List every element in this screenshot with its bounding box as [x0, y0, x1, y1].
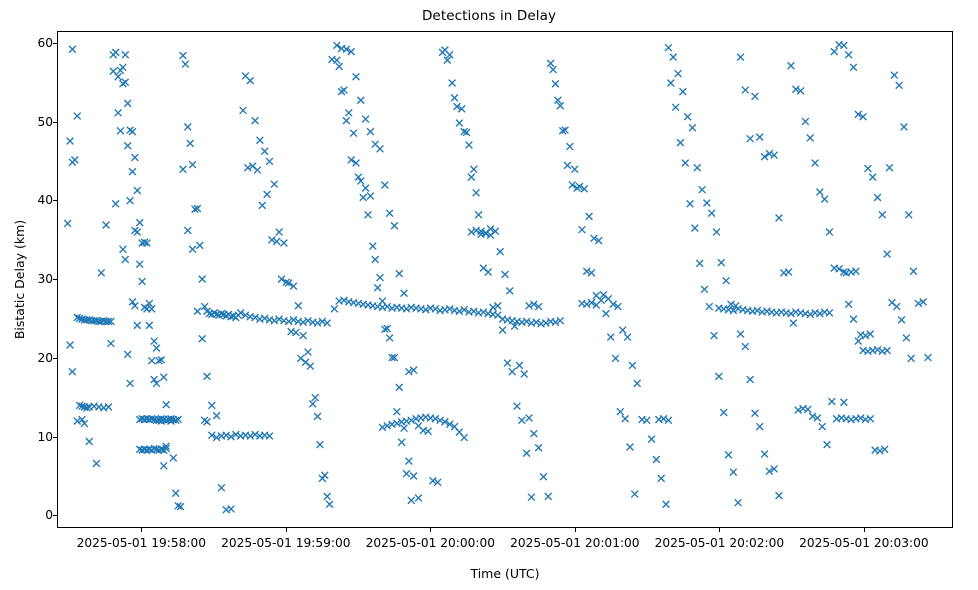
scatter-point — [228, 506, 235, 513]
y-tick-label: 40 — [37, 193, 53, 207]
scatter-point — [852, 268, 859, 275]
scatter-point — [788, 62, 795, 69]
scatter-series-detections — [58, 32, 952, 527]
scatter-point — [634, 380, 641, 387]
y-tick-label: 50 — [37, 115, 53, 129]
scatter-point — [663, 501, 670, 508]
scatter-point — [124, 142, 131, 149]
scatter-point — [499, 327, 506, 334]
scatter-point — [908, 355, 915, 362]
scatter-point — [293, 329, 300, 336]
scatter-point — [901, 124, 908, 131]
scatter-point — [840, 42, 847, 49]
scatter-point — [124, 351, 131, 358]
scatter-point — [603, 310, 610, 317]
scatter-point — [470, 166, 477, 173]
scatter-point — [905, 211, 912, 218]
scatter-point — [564, 162, 571, 169]
scatter-point — [845, 51, 852, 58]
plot-area — [57, 31, 953, 528]
scatter-point — [69, 368, 76, 375]
scatter-point — [305, 349, 312, 356]
scatter-point — [812, 160, 819, 167]
scatter-point — [855, 338, 862, 345]
scatter-point — [840, 399, 847, 406]
scatter-point — [415, 495, 422, 502]
scatter-point — [689, 124, 696, 131]
scatter-point — [122, 79, 129, 86]
scatter-point — [396, 270, 403, 277]
x-tick-label: 2025-05-01 20:01:00 — [510, 535, 639, 551]
scatter-point — [518, 417, 525, 424]
scatter-point — [103, 222, 110, 229]
scatter-point — [816, 189, 823, 196]
scatter-point — [146, 322, 153, 329]
scatter-point — [362, 185, 369, 192]
scatter-point — [333, 57, 340, 64]
x-tick-label: 2025-05-01 20:00:00 — [366, 535, 495, 551]
scatter-point — [369, 243, 376, 250]
scatter-point — [362, 116, 369, 123]
scatter-point — [163, 401, 170, 408]
scatter-point — [667, 80, 674, 87]
x-tick-label: 2025-05-01 19:58:00 — [77, 535, 206, 551]
scatter-point — [504, 360, 511, 367]
scatter-point — [353, 73, 360, 80]
scatter-point — [309, 400, 316, 407]
scatter-point — [752, 410, 759, 417]
scatter-point — [706, 303, 713, 310]
scatter-point — [699, 186, 706, 193]
scatter-point — [884, 251, 891, 258]
y-tick-label: 10 — [37, 430, 53, 444]
scatter-point — [312, 394, 319, 401]
scatter-point — [281, 240, 288, 247]
scatter-point — [254, 167, 261, 174]
scatter-point — [204, 373, 211, 380]
scatter-point — [552, 80, 559, 87]
scatter-point — [747, 135, 754, 142]
scatter-point — [115, 73, 122, 80]
scatter-point — [713, 229, 720, 236]
scatter-point — [261, 148, 268, 155]
scatter-point — [187, 140, 194, 147]
scatter-point — [828, 398, 835, 405]
scatter-point — [742, 343, 749, 350]
scatter-point — [670, 54, 677, 61]
scatter-point — [372, 256, 379, 263]
scatter-point — [879, 211, 886, 218]
scatter-point — [367, 128, 374, 135]
scatter-point — [398, 439, 405, 446]
scatter-point — [449, 80, 456, 87]
scatter-point — [831, 48, 838, 55]
scatter-point — [98, 269, 105, 276]
scatter-point — [687, 200, 694, 207]
scatter-point — [317, 441, 324, 448]
scatter-point — [256, 137, 263, 144]
scatter-point — [869, 174, 876, 181]
scatter-point — [69, 46, 76, 53]
scatter-point — [896, 82, 903, 89]
scatter-point — [850, 64, 857, 71]
x-tick-mark — [575, 528, 576, 532]
scatter-point — [617, 408, 624, 415]
x-tick-label: 2025-05-01 19:59:00 — [221, 535, 350, 551]
scatter-point — [204, 418, 211, 425]
scatter-point — [672, 104, 679, 111]
scatter-point — [629, 362, 636, 369]
scatter-point — [776, 215, 783, 222]
scatter-point — [571, 166, 578, 173]
scatter-point — [451, 95, 458, 102]
scatter-point — [86, 438, 93, 445]
scatter-point — [136, 219, 143, 226]
scatter-point — [107, 340, 114, 347]
scatter-point — [891, 72, 898, 79]
x-tick-mark — [430, 528, 431, 532]
scatter-point — [566, 143, 573, 150]
scatter-point — [259, 202, 266, 209]
scatter-point — [886, 164, 893, 171]
scatter-point — [473, 189, 480, 196]
scatter-point — [71, 156, 78, 163]
scatter-point — [184, 124, 191, 131]
scatter-point — [776, 492, 783, 499]
scatter-point — [196, 242, 203, 249]
scatter-point — [735, 499, 742, 506]
scatter-point — [526, 415, 533, 422]
scatter-point — [218, 484, 225, 491]
scatter-point — [619, 327, 626, 334]
scatter-point — [117, 127, 124, 134]
scatter-point — [180, 166, 187, 173]
scatter-point — [807, 135, 814, 142]
scatter-point — [112, 200, 119, 207]
scatter-point — [264, 191, 271, 198]
scatter-point — [497, 248, 504, 255]
y-tick-label: 30 — [37, 272, 53, 286]
scatter-point — [324, 493, 331, 500]
scatter-point — [386, 335, 393, 342]
scatter-point — [271, 181, 278, 188]
scatter-point — [252, 117, 259, 124]
x-tick-mark — [286, 528, 287, 532]
scatter-point — [540, 473, 547, 480]
scatter-point — [579, 226, 586, 233]
scatter-point — [631, 491, 638, 498]
y-tick-label: 60 — [37, 36, 53, 50]
scatter-point — [122, 51, 129, 58]
scatter-point — [67, 342, 74, 349]
scatter-point — [845, 301, 852, 308]
scatter-point — [357, 97, 364, 104]
y-tick-label: 20 — [37, 351, 53, 365]
scatter-point — [468, 174, 475, 181]
scatter-point — [360, 194, 367, 201]
scatter-point — [547, 60, 554, 67]
scatter-point — [550, 66, 557, 73]
scatter-point — [122, 256, 129, 263]
scatter-point — [64, 220, 71, 227]
scatter-point — [761, 451, 768, 458]
scatter-point — [379, 298, 386, 305]
scatter-point — [701, 286, 708, 293]
scatter-point — [132, 154, 139, 161]
scatter-point — [151, 338, 158, 345]
scatter-point — [266, 433, 273, 440]
x-tick-label: 2025-05-01 20:03:00 — [799, 535, 928, 551]
scatter-point — [381, 182, 388, 189]
scatter-point — [401, 290, 408, 297]
scatter-point — [401, 425, 408, 432]
scatter-point — [624, 334, 631, 341]
scatter-point — [790, 320, 797, 327]
scatter-point — [266, 158, 273, 165]
scatter-point — [884, 347, 891, 354]
scatter-point — [182, 61, 189, 68]
scatter-point — [160, 462, 167, 469]
scatter-point — [367, 193, 374, 200]
scatter-point — [925, 354, 932, 361]
scatter-point — [105, 404, 112, 411]
scatter-point — [703, 200, 710, 207]
scatter-point — [74, 113, 81, 120]
scatter-point — [516, 362, 523, 369]
scatter-point — [425, 428, 432, 435]
page-title: Detections in Delay — [0, 8, 978, 24]
scatter-point — [723, 277, 730, 284]
scatter-point — [461, 434, 468, 441]
scatter-point — [112, 49, 119, 56]
scatter-point — [172, 490, 179, 497]
x-tick-mark — [864, 528, 865, 532]
scatter-point — [612, 355, 619, 362]
scatter-point — [67, 138, 74, 145]
scatter-point — [247, 77, 254, 84]
scatter-point — [679, 88, 686, 95]
scatter-point — [331, 306, 338, 313]
scatter-point — [134, 229, 141, 236]
scatter-point — [485, 269, 492, 276]
scatter-point — [345, 109, 352, 116]
x-tick-label: 2025-05-01 20:02:00 — [655, 535, 784, 551]
scatter-point — [514, 403, 521, 410]
scatter-point — [622, 415, 629, 422]
scatter-point — [134, 187, 141, 194]
scatter-point — [819, 423, 826, 430]
scatter-point — [535, 444, 542, 451]
scatter-point — [240, 107, 247, 114]
scatter-point — [658, 475, 665, 482]
scatter-point — [756, 134, 763, 141]
scatter-point — [295, 302, 302, 309]
scatter-point — [393, 408, 400, 415]
scatter-point — [160, 374, 167, 381]
scatter-point — [720, 409, 727, 416]
scatter-point — [365, 211, 372, 218]
scatter-point — [725, 451, 732, 458]
scatter-point — [410, 473, 417, 480]
scatter-point — [180, 52, 187, 59]
scatter-point — [821, 196, 828, 203]
x-axis-label: Time (UTC) — [57, 566, 953, 581]
scatter-point — [194, 308, 201, 315]
scatter-point — [350, 130, 357, 137]
scatter-point — [199, 335, 206, 342]
scatter-point — [336, 63, 343, 70]
scatter-point — [826, 309, 833, 316]
scatter-point — [153, 345, 160, 352]
scatter-point — [682, 160, 689, 167]
scatter-point — [341, 87, 348, 94]
scatter-point — [874, 194, 881, 201]
scatter-point — [127, 197, 134, 204]
scatter-point — [684, 113, 691, 120]
scatter-point — [867, 415, 874, 422]
scatter-point — [648, 436, 655, 443]
scatter-point — [893, 303, 900, 310]
y-tick-label: 0 — [45, 508, 53, 522]
scatter-point — [136, 261, 143, 268]
scatter-point — [747, 376, 754, 383]
scatter-point — [456, 120, 463, 127]
scatter-point — [300, 332, 307, 339]
scatter-point — [170, 455, 177, 462]
scatter-point — [864, 165, 871, 172]
scatter-point — [506, 287, 513, 294]
scatter-point — [898, 317, 905, 324]
scatter-point — [691, 225, 698, 232]
scatter-points — [64, 41, 931, 513]
scatter-point — [653, 456, 660, 463]
scatter-point — [528, 494, 535, 501]
scatter-point — [119, 246, 126, 253]
y-axis-label: Bistatic Delay (km) — [12, 31, 28, 528]
scatter-point — [826, 229, 833, 236]
scatter-point — [307, 363, 314, 370]
scatter-point — [408, 497, 415, 504]
scatter-point — [343, 117, 350, 124]
scatter-point — [208, 402, 215, 409]
scatter-point — [737, 54, 744, 61]
scatter-point — [903, 335, 910, 342]
scatter-point — [314, 413, 321, 420]
scatter-point — [326, 501, 333, 508]
scatter-point — [521, 371, 528, 378]
scatter-point — [93, 460, 100, 467]
scatter-point — [502, 271, 509, 278]
scatter-point — [403, 470, 410, 477]
scatter-point — [129, 168, 136, 175]
scatter-point — [124, 100, 131, 107]
scatter-point — [756, 423, 763, 430]
matplotlib-figure: Detections in Delay Bistatic Delay (km) … — [0, 0, 978, 590]
scatter-point — [711, 332, 718, 339]
scatter-point — [184, 227, 191, 234]
scatter-point — [677, 139, 684, 146]
scatter-point — [129, 128, 136, 135]
scatter-point — [718, 259, 725, 266]
scatter-point — [752, 93, 759, 100]
scatter-point — [466, 142, 473, 149]
x-tick-mark — [141, 528, 142, 532]
scatter-point — [199, 276, 206, 283]
x-tick-mark — [719, 528, 720, 532]
scatter-point — [742, 87, 749, 94]
scatter-point — [824, 441, 831, 448]
scatter-point — [586, 213, 593, 220]
scatter-point — [675, 70, 682, 77]
scatter-point — [545, 493, 552, 500]
scatter-point — [189, 246, 196, 253]
scatter-point — [276, 229, 283, 236]
scatter-point — [377, 274, 384, 281]
scatter-point — [850, 316, 857, 323]
scatter-point — [391, 222, 398, 229]
scatter-point — [377, 145, 384, 152]
scatter-point — [627, 444, 634, 451]
scatter-point — [213, 412, 220, 419]
scatter-point — [115, 109, 122, 116]
scatter-point — [405, 458, 412, 465]
scatter-point — [386, 210, 393, 217]
scatter-point — [708, 210, 715, 217]
scatter-point — [475, 211, 482, 218]
scatter-point — [119, 64, 126, 71]
scatter-point — [189, 161, 196, 168]
scatter-point — [737, 331, 744, 338]
scatter-point — [530, 430, 537, 437]
scatter-point — [643, 417, 650, 424]
scatter-point — [127, 380, 134, 387]
scatter-point — [804, 406, 811, 413]
scatter-point — [139, 278, 146, 285]
scatter-point — [730, 469, 737, 476]
scatter-point — [374, 284, 381, 291]
scatter-point — [319, 475, 326, 482]
scatter-point — [696, 260, 703, 267]
scatter-point — [134, 322, 141, 329]
scatter-point — [396, 384, 403, 391]
scatter-point — [607, 334, 614, 341]
scatter-point — [509, 368, 516, 375]
scatter-point — [715, 373, 722, 380]
scatter-point — [910, 268, 917, 275]
scatter-point — [523, 450, 530, 457]
scatter-point — [694, 164, 701, 171]
scatter-point — [802, 118, 809, 125]
scatter-point — [665, 44, 672, 51]
scatter-point — [148, 357, 155, 364]
scatter-point — [785, 269, 792, 276]
